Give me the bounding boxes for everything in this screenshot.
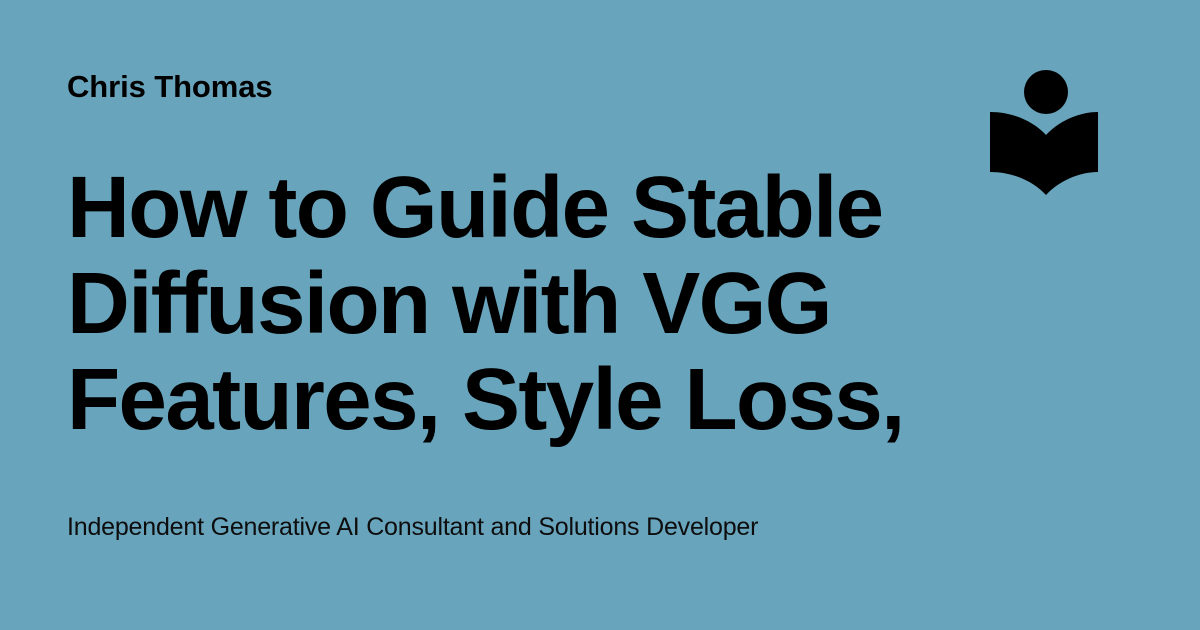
social-share-card: Chris Thomas How to Guide Stable Diffusi… — [0, 0, 1200, 630]
page-title: How to Guide Stable Diffusion with VGG F… — [67, 160, 947, 448]
subtitle-tagline: Independent Generative AI Consultant and… — [67, 512, 758, 542]
title-line-1: How to Guide Stable — [67, 160, 947, 256]
title-line-2: Diffusion with VGG — [67, 256, 947, 352]
open-book-reader-icon — [986, 66, 1102, 198]
author-name: Chris Thomas — [67, 70, 273, 104]
title-line-3: Features, Style Loss, — [67, 352, 947, 448]
card-text-block: Chris Thomas How to Guide Stable Diffusi… — [67, 0, 967, 630]
